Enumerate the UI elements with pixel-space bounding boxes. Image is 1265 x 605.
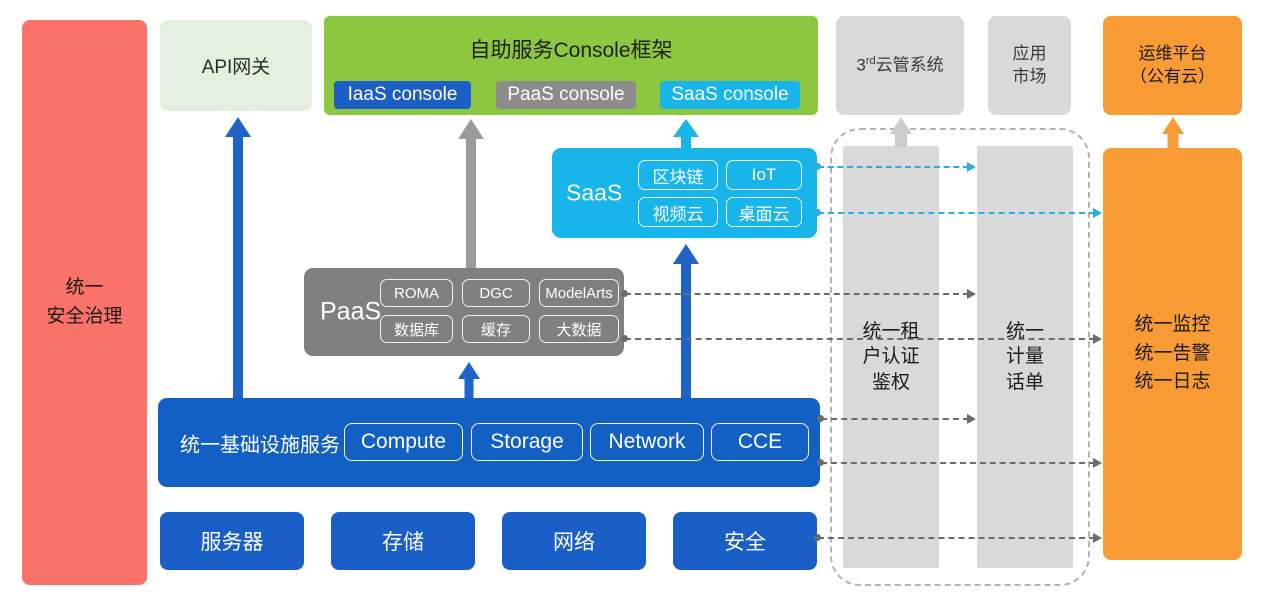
saas-tag-desktop-cloud-label: 桌面云 xyxy=(739,200,790,225)
third-party-suffix: 云管系统 xyxy=(876,55,944,74)
arrow-paas-to-console xyxy=(458,119,484,268)
app-market-box: 应用 市场 xyxy=(988,16,1071,115)
saas-console-label: SaaS console xyxy=(671,84,788,106)
arrow-saas-to-console xyxy=(673,119,699,148)
unified-tenant-auth-line1: 统一租 xyxy=(862,319,919,344)
hardware-server-label: 服务器 xyxy=(201,526,264,556)
paas-tag-cache[interactable]: 缓存 xyxy=(462,315,530,343)
third-party-superscript: rd xyxy=(866,55,876,67)
saas-console-chip[interactable]: SaaS console xyxy=(660,81,800,109)
paas-tag-cache-label: 缓存 xyxy=(481,319,511,340)
infra-tag-storage[interactable]: Storage xyxy=(471,423,583,461)
console-framework-panel: 自助服务Console框架 IaaS console PaaS console … xyxy=(324,16,818,115)
third-party-cloud-management-box: 3rd云管系统 xyxy=(836,16,964,115)
unified-infrastructure-label: 统一基础设施服务 xyxy=(180,428,340,457)
saas-tag-iot-label: IoT xyxy=(752,165,777,185)
ops-platform-public-cloud-box: 运维平台 （公有云） xyxy=(1103,16,1242,115)
ops-platform-line1: 运维平台 xyxy=(1139,43,1207,66)
unified-metering-billing-column: 统一 计量 话单 xyxy=(977,146,1073,568)
unified-metering-line1: 统一 xyxy=(1006,319,1044,344)
hardware-security-label: 安全 xyxy=(724,526,766,556)
iaas-console-chip[interactable]: IaaS console xyxy=(334,81,471,109)
saas-tag-blockchain-label: 区块链 xyxy=(653,163,704,188)
unified-metering-line3: 话单 xyxy=(1006,370,1044,395)
architecture-diagram: 统一 安全治理 API网关 自助服务Console框架 IaaS console… xyxy=(0,0,1265,605)
infra-tag-compute-label: Compute xyxy=(361,430,446,454)
paas-panel: PaaS ROMA DGC ModelArts 数据库 缓存 大数据 xyxy=(304,268,624,356)
connector-arrowhead-hardware-ops xyxy=(1093,533,1102,543)
saas-tag-blockchain[interactable]: 区块链 xyxy=(638,160,718,190)
unified-log-line3: 统一日志 xyxy=(1134,368,1210,397)
infra-tag-network-label: Network xyxy=(608,430,685,454)
console-framework-title: 自助服务Console框架 xyxy=(324,34,818,64)
connector-arrowhead-infra-ops xyxy=(1093,458,1102,468)
infra-tag-compute[interactable]: Compute xyxy=(344,423,463,461)
unified-monitoring-line1: 统一监控 xyxy=(1134,311,1210,340)
connector-saas-to-tenant-auth xyxy=(818,166,969,168)
third-party-cloud-management-label: 3rd云管系统 xyxy=(856,54,943,78)
hardware-storage-label: 存储 xyxy=(382,526,424,556)
hardware-network-box: 网络 xyxy=(502,512,646,570)
paas-tag-roma[interactable]: ROMA xyxy=(380,279,453,307)
api-gateway-box: API网关 xyxy=(160,20,312,111)
unified-tenant-auth-column: 统一租 户认证 鉴权 xyxy=(843,146,939,568)
paas-tag-dgc[interactable]: DGC xyxy=(462,279,530,307)
hardware-server-box: 服务器 xyxy=(160,512,304,570)
iaas-console-label: IaaS console xyxy=(348,84,458,106)
app-market-line1: 应用 xyxy=(1013,43,1047,66)
connector-arrowhead-infra-auth xyxy=(967,414,976,424)
saas-tag-desktop-cloud[interactable]: 桌面云 xyxy=(726,197,802,227)
saas-tag-video-cloud-label: 视频云 xyxy=(653,200,704,225)
hardware-network-label: 网络 xyxy=(553,526,595,556)
paas-tag-bigdata[interactable]: 大数据 xyxy=(539,315,619,343)
paas-console-chip[interactable]: PaaS console xyxy=(496,81,636,109)
saas-panel: SaaS 区块链 IoT 视频云 桌面云 xyxy=(552,148,817,238)
connector-infra-to-tenant-auth xyxy=(821,418,969,420)
unified-tenant-auth-line3: 鉴权 xyxy=(872,370,910,395)
paas-tag-dgc-label: DGC xyxy=(479,285,512,302)
app-market-line2: 市场 xyxy=(1013,66,1047,89)
unified-alarm-line2: 统一告警 xyxy=(1134,340,1210,369)
ops-platform-line2: （公有云） xyxy=(1130,66,1215,89)
hardware-storage-box: 存储 xyxy=(331,512,475,570)
arrow-ops-column-to-ops-platform xyxy=(1161,117,1185,148)
saas-panel-label: SaaS xyxy=(566,180,622,207)
paas-tag-database[interactable]: 数据库 xyxy=(380,315,453,343)
connector-arrowhead-paas-ops xyxy=(1093,334,1102,344)
infra-tag-storage-label: Storage xyxy=(490,430,564,454)
arrow-infra-to-api-gateway xyxy=(225,117,251,398)
infra-tag-cce-label: CCE xyxy=(738,430,782,454)
unified-monitoring-column: 统一监控 统一告警 统一日志 xyxy=(1103,148,1242,560)
unified-metering-line2: 计量 xyxy=(1006,344,1044,369)
arrow-infra-to-saas xyxy=(673,244,699,398)
connector-arrowhead-saas-auth xyxy=(967,162,976,172)
connector-paas-to-tenant-auth xyxy=(625,293,969,295)
arrow-infra-to-paas xyxy=(458,362,480,398)
paas-tag-modelarts-label: ModelArts xyxy=(545,285,613,302)
paas-tag-roma-label: ROMA xyxy=(394,285,439,302)
hardware-security-box: 安全 xyxy=(673,512,817,570)
paas-console-label: PaaS console xyxy=(507,84,624,106)
arrow-shared-to-third-party xyxy=(889,117,913,147)
connector-paas-to-ops xyxy=(625,338,1095,340)
infra-tag-network[interactable]: Network xyxy=(590,423,704,461)
connector-infra-to-ops xyxy=(821,462,1095,464)
paas-tag-database-label: 数据库 xyxy=(394,319,439,340)
connector-arrowhead-paas-auth xyxy=(967,289,976,299)
unified-tenant-auth-line2: 户认证 xyxy=(862,344,919,369)
paas-tag-modelarts[interactable]: ModelArts xyxy=(539,279,619,307)
connector-saas-to-ops xyxy=(818,212,1095,214)
infra-tag-cce[interactable]: CCE xyxy=(711,423,809,461)
saas-tag-video-cloud[interactable]: 视频云 xyxy=(638,197,718,227)
paas-tag-bigdata-label: 大数据 xyxy=(556,319,601,340)
third-party-prefix: 3 xyxy=(856,55,865,74)
connector-arrowhead-saas-ops xyxy=(1093,208,1102,218)
paas-panel-label: PaaS xyxy=(320,298,381,327)
security-governance-line2: 安全治理 xyxy=(46,303,122,332)
api-gateway-label: API网关 xyxy=(202,52,271,79)
connector-hardware-to-ops xyxy=(818,537,1095,539)
security-governance-line1: 统一 xyxy=(65,274,103,303)
saas-tag-iot[interactable]: IoT xyxy=(726,160,802,190)
unified-infrastructure-bar: 统一基础设施服务 Compute Storage Network CCE xyxy=(158,398,820,487)
security-governance-column: 统一 安全治理 xyxy=(22,20,147,585)
